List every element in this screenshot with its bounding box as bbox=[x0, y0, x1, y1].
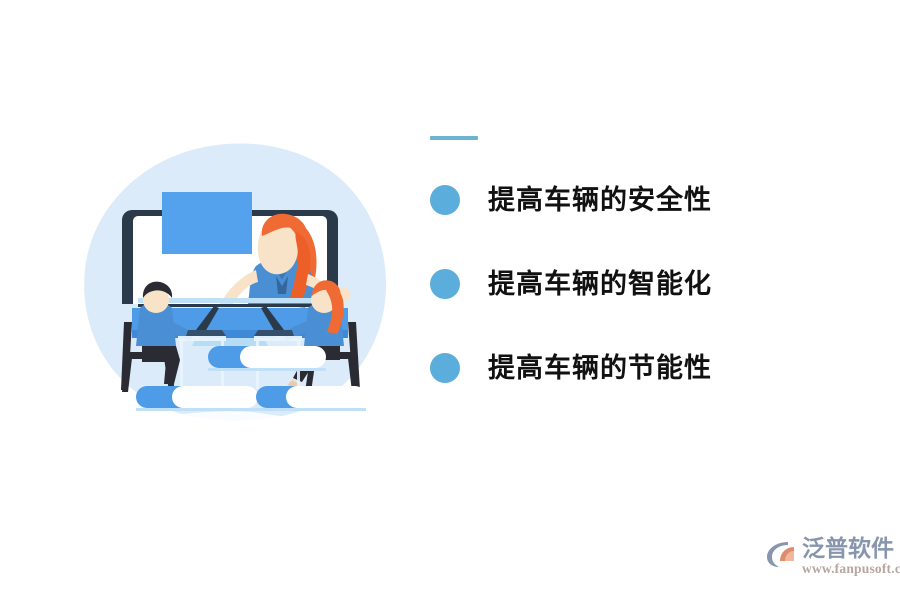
bullet-dot-icon bbox=[430, 185, 460, 215]
online-learning-illustration bbox=[80, 140, 400, 430]
book-upper-white bbox=[240, 346, 326, 368]
list-item[interactable]: 提高车辆的安全性 bbox=[430, 178, 850, 222]
logo-website-url: www.fanpusoft.com bbox=[802, 561, 900, 577]
bullet-dot-icon bbox=[430, 269, 460, 299]
logo-text-block: 泛普软件 www.fanpusoft.com bbox=[802, 536, 900, 577]
bullet-label: 提高车辆的节能性 bbox=[488, 355, 712, 382]
bullet-dot-icon bbox=[430, 353, 460, 383]
desk-right-top bbox=[254, 336, 302, 341]
book-lower-line bbox=[136, 408, 366, 411]
list-item[interactable]: 提高车辆的智能化 bbox=[430, 262, 850, 306]
bullet-label: 提高车辆的安全性 bbox=[488, 187, 712, 214]
list-item[interactable]: 提高车辆的节能性 bbox=[430, 346, 850, 390]
accent-rule bbox=[430, 136, 478, 140]
laptop-left-base bbox=[186, 330, 226, 336]
desk-left-top bbox=[178, 336, 226, 341]
book-lower-white-1 bbox=[172, 386, 258, 408]
book-upper-line bbox=[208, 368, 326, 371]
desk-left-leg-l bbox=[180, 341, 183, 389]
book-lower-white-2 bbox=[286, 386, 366, 408]
whiteboard-panel bbox=[162, 192, 252, 254]
floor-wave bbox=[82, 410, 400, 430]
logo-company-name: 泛普软件 bbox=[802, 536, 900, 560]
bullet-label: 提高车辆的智能化 bbox=[488, 271, 712, 298]
laptop-right-base bbox=[254, 330, 294, 336]
slide-canvas: 提高车辆的安全性 提高车辆的智能化 提高车辆的节能性 泛普软件 www.fanp… bbox=[0, 0, 900, 600]
fanpu-logo-icon bbox=[766, 539, 800, 569]
bullet-list: 提高车辆的安全性 提高车辆的智能化 提高车辆的节能性 bbox=[430, 136, 850, 390]
brand-watermark[interactable]: 泛普软件 www.fanpusoft.com bbox=[766, 536, 892, 592]
